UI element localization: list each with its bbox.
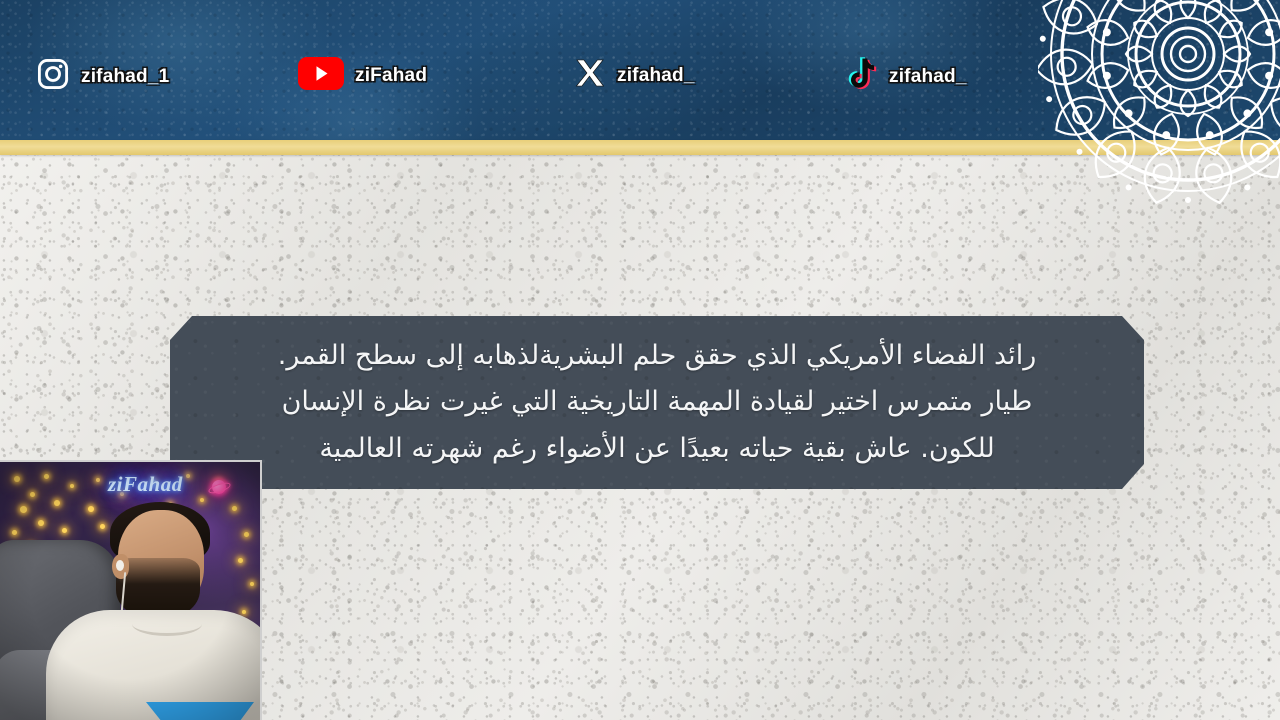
social-link-instagram[interactable]: zifahad_1	[36, 57, 169, 96]
gold-divider	[0, 140, 1280, 155]
instagram-icon	[36, 57, 70, 96]
stream-overlay-stage: zifahad_1 ziFahad zifahad_	[0, 0, 1280, 720]
caption-line: للكون. عاش بقية حياته بعيدًا عن الأضواء …	[192, 426, 1122, 472]
shirt-graphic	[146, 702, 254, 720]
streamer-person	[54, 502, 262, 720]
earbud-icon	[116, 560, 124, 571]
caption-line: طيار متمرس اختير لقيادة المهمة التاريخية…	[192, 379, 1122, 425]
neon-sign-label: ziFahad	[108, 472, 183, 497]
person-collar	[132, 612, 202, 636]
caption-text: رائد الفضاء الأمريكي الذي حقق حلم البشري…	[170, 333, 1144, 472]
tiktok-icon	[848, 57, 878, 96]
social-links-bar: zifahad_1 ziFahad zifahad_	[0, 0, 1060, 140]
caption-line: رائد الفضاء الأمريكي الذي حقق حلم البشري…	[192, 333, 1122, 379]
youtube-icon	[298, 57, 344, 95]
social-link-x[interactable]: zifahad_	[574, 57, 695, 94]
webcam-overlay[interactable]: ziFahad	[0, 460, 262, 720]
x-icon	[574, 57, 606, 94]
x-handle: zifahad_	[617, 65, 695, 87]
caption-box: رائد الفضاء الأمريكي الذي حقق حلم البشري…	[170, 316, 1144, 489]
instagram-handle: zifahad_1	[81, 66, 169, 88]
tiktok-handle: zifahad_	[889, 66, 967, 88]
social-link-tiktok[interactable]: zifahad_	[848, 57, 967, 96]
youtube-handle: ziFahad	[355, 65, 427, 87]
social-link-youtube[interactable]: ziFahad	[298, 57, 427, 95]
planet-icon	[210, 478, 229, 497]
